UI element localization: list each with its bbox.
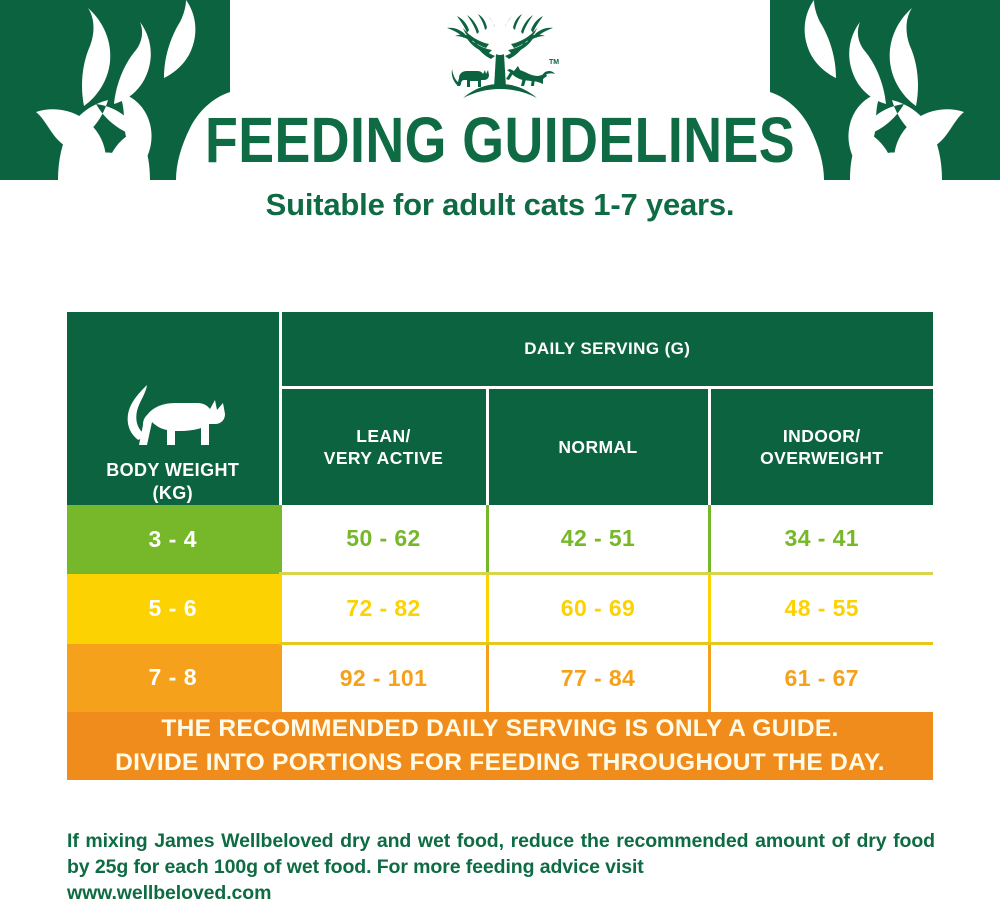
table-header-row-group: BODY WEIGHT (KG) DAILY SERVING (G) xyxy=(67,312,933,388)
page-title: FEEDING GUIDELINES xyxy=(80,106,920,174)
feeding-guidelines-table: BODY WEIGHT (KG) DAILY SERVING (G) LEAN/… xyxy=(67,312,933,780)
header-indoor-line2: OVERWEIGHT xyxy=(760,448,883,468)
cell-3-4-indoor: 34 - 41 xyxy=(709,505,933,574)
cat-icon xyxy=(113,373,233,451)
header-body-weight: BODY WEIGHT (KG) xyxy=(67,312,280,505)
table-row: 3 - 4 50 - 62 42 - 51 34 - 41 xyxy=(67,505,933,574)
header-daily-serving: DAILY SERVING (G) xyxy=(280,312,933,388)
footer-website: www.wellbeloved.com xyxy=(67,880,935,906)
page-subtitle: Suitable for adult cats 1-7 years. xyxy=(0,188,1000,222)
header-lean-line1: LEAN/ xyxy=(356,426,411,446)
guide-banner-line2: DIVIDE INTO PORTIONS FOR FEEDING THROUGH… xyxy=(67,746,933,780)
cell-5-6-lean: 72 - 82 xyxy=(280,574,487,644)
header-normal-line1: NORMAL xyxy=(558,437,637,457)
header-column-lean-very-active: LEAN/ VERY ACTIVE xyxy=(280,388,487,506)
guide-banner-line1: THE RECOMMENDED DAILY SERVING IS ONLY A … xyxy=(67,712,933,746)
row-weight-5-6: 5 - 6 xyxy=(67,574,280,644)
guide-banner: THE RECOMMENDED DAILY SERVING IS ONLY A … xyxy=(67,712,933,780)
wellbeloved-tree-logo-icon: TM xyxy=(435,14,565,102)
header-column-indoor-overweight: INDOOR/ OVERWEIGHT xyxy=(709,388,933,506)
row-weight-7-8: 7 - 8 xyxy=(67,644,280,713)
header-body-weight-unit: (KG) xyxy=(152,483,193,503)
footer-note: If mixing James Wellbeloved dry and wet … xyxy=(67,828,935,906)
cell-7-8-lean: 92 - 101 xyxy=(280,644,487,713)
cell-7-8-normal: 77 - 84 xyxy=(487,644,709,713)
header-lean-line2: VERY ACTIVE xyxy=(324,448,443,468)
feeding-table-wrapper: BODY WEIGHT (KG) DAILY SERVING (G) LEAN/… xyxy=(67,312,933,780)
header-body-weight-label: BODY WEIGHT xyxy=(106,460,239,480)
row-weight-3-4: 3 - 4 xyxy=(67,505,280,574)
cell-5-6-indoor: 48 - 55 xyxy=(709,574,933,644)
trademark-symbol: TM xyxy=(549,59,559,66)
cell-3-4-normal: 42 - 51 xyxy=(487,505,709,574)
cell-3-4-lean: 50 - 62 xyxy=(280,505,487,574)
cell-7-8-indoor: 61 - 67 xyxy=(709,644,933,713)
header-indoor-line1: INDOOR/ xyxy=(783,426,861,446)
guide-banner-row: THE RECOMMENDED DAILY SERVING IS ONLY A … xyxy=(67,712,933,780)
footer-paragraph: If mixing James Wellbeloved dry and wet … xyxy=(67,830,935,878)
table-row: 5 - 6 72 - 82 60 - 69 48 - 55 xyxy=(67,574,933,644)
header-column-normal: NORMAL xyxy=(487,388,709,506)
page-header: TM FEEDING GUIDELINES Suitable for adult… xyxy=(0,0,1000,222)
cell-5-6-normal: 60 - 69 xyxy=(487,574,709,644)
table-row: 7 - 8 92 - 101 77 - 84 61 - 67 xyxy=(67,644,933,713)
